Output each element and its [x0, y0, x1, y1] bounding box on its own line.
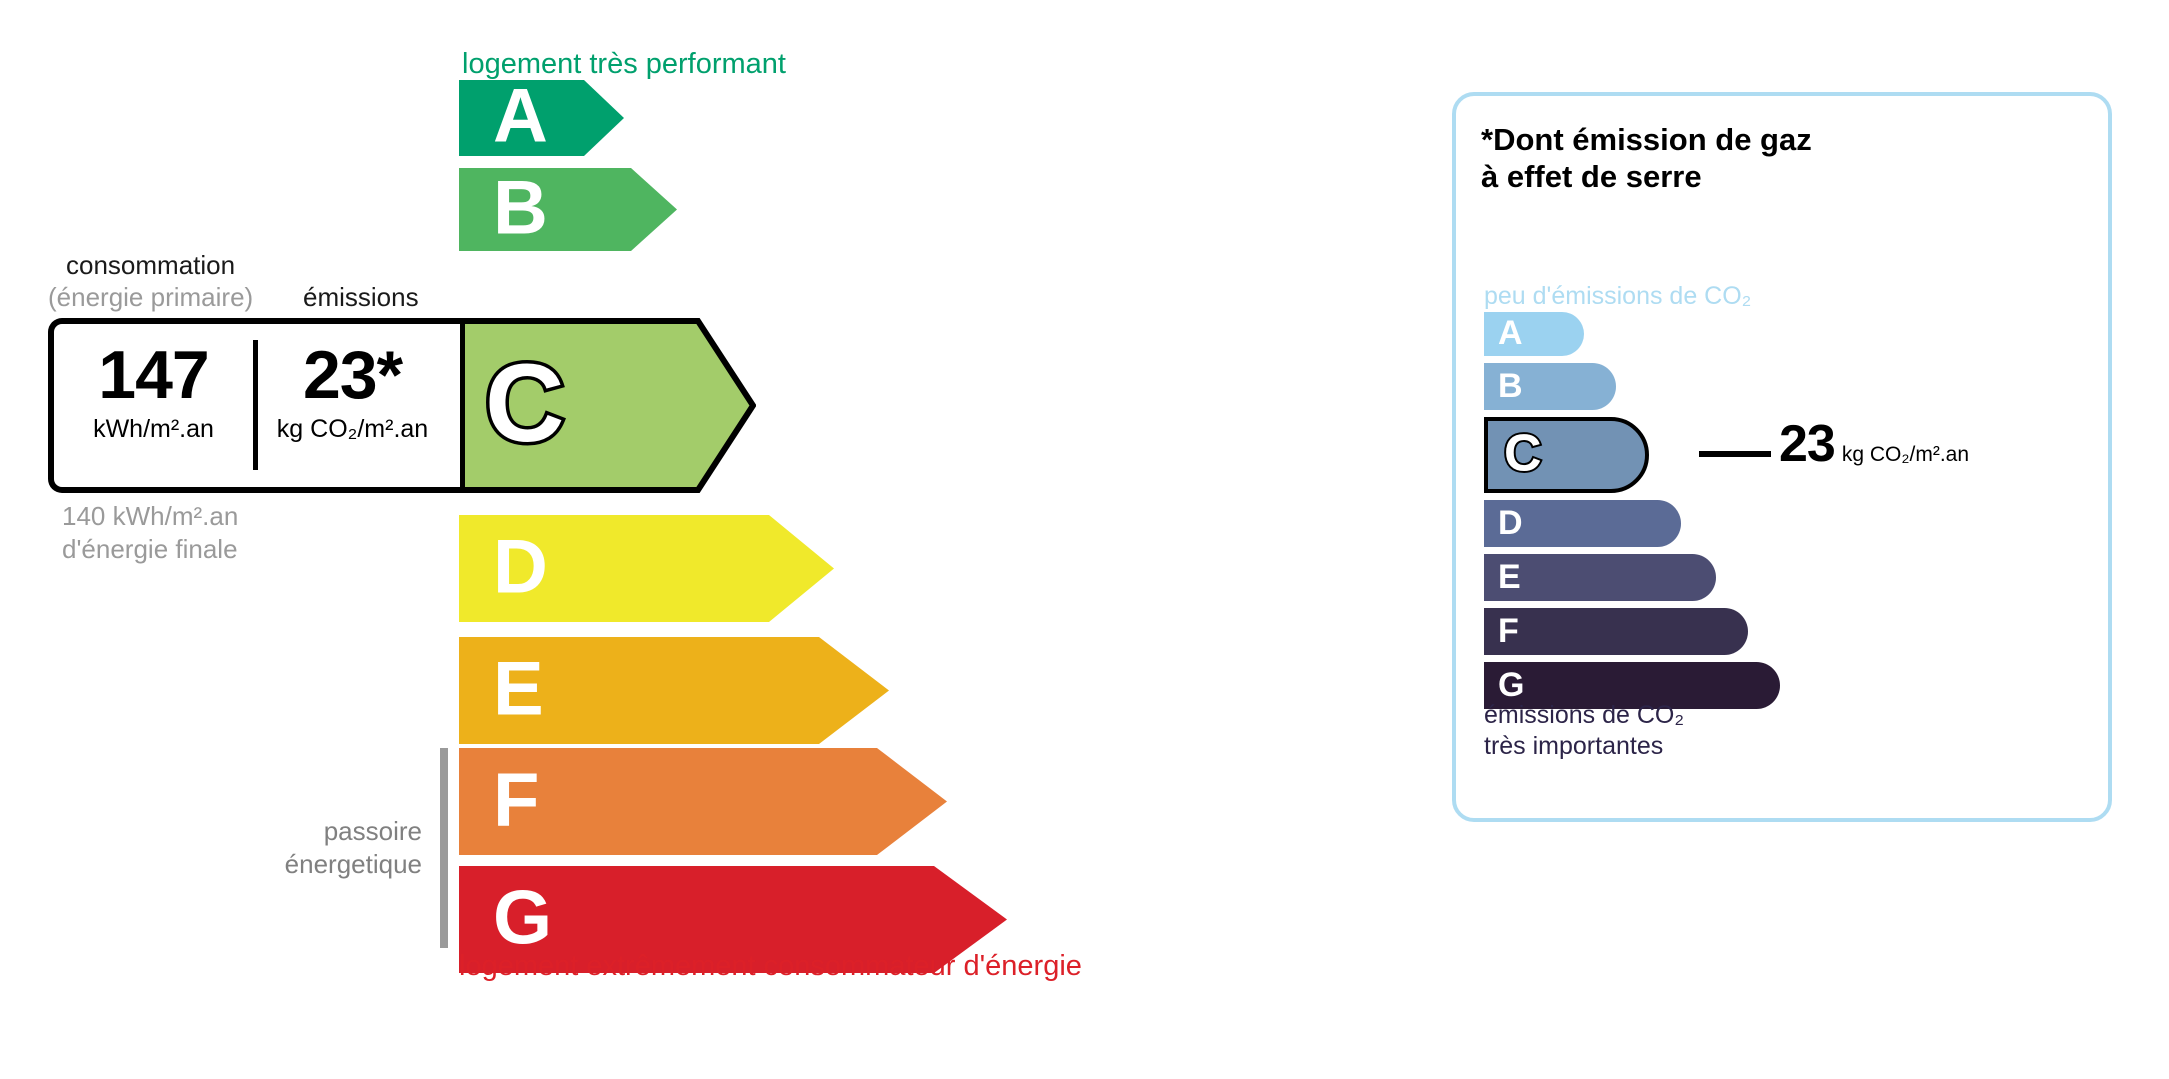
energy-grade-a: A	[459, 80, 624, 156]
co2-grade-letter-a: A	[1498, 316, 1523, 350]
co2-callout-value: 23	[1779, 415, 1835, 473]
passoire-bracket	[440, 748, 448, 948]
co2-grade-b: B	[1484, 363, 1616, 410]
energy-grade-f: F	[459, 748, 947, 855]
co2-leader-line	[1699, 451, 1771, 457]
co2-grade-letter-e: E	[1498, 559, 1521, 593]
passoire-label: passoire énergetique	[170, 815, 422, 880]
co2-title-line1: *Dont émission de gaz	[1481, 122, 1812, 159]
emission-value: 23*	[260, 342, 445, 409]
co2-bottom-line1: émissions de CO₂	[1484, 700, 1684, 731]
energy-grade-d: D	[459, 515, 834, 622]
co2-grade-a: A	[1484, 312, 1584, 356]
energy-grade-letter-d: D	[493, 529, 548, 605]
co2-bottom-line2: très importantes	[1484, 731, 1684, 762]
co2-top-caption: peu d'émissions de CO₂	[1484, 282, 1751, 311]
energy-grade-b: B	[459, 168, 677, 251]
co2-callout-unit: kg CO₂/m².an	[1842, 443, 1969, 466]
energy-bottom-caption: logement extrêmement consommateur d'éner…	[459, 950, 1082, 983]
co2-bottom-caption: émissions de CO₂ très importantes	[1484, 700, 1684, 761]
energy-grade-letter-g: G	[493, 880, 552, 956]
final-energy-note: 140 kWh/m².an d'énergie finale	[62, 500, 238, 565]
energy-performance-chart: logement très performant ABCDEFG consomm…	[0, 0, 1400, 1079]
energy-grade-letter-f: F	[493, 762, 539, 838]
label-emissions: émissions	[303, 282, 419, 313]
co2-grade-d: D	[1484, 500, 1681, 547]
value-box-divider	[253, 340, 258, 470]
energy-grade-letter-a: A	[493, 78, 548, 154]
co2-grade-letter-g: G	[1498, 667, 1524, 701]
arrow-shape-b	[459, 168, 677, 251]
final-energy-label: d'énergie finale	[62, 533, 238, 566]
passoire-line2: énergetique	[170, 848, 422, 881]
label-consumption: consommation	[66, 250, 235, 281]
co2-grade-letter-d: D	[1498, 505, 1523, 539]
energy-grade-letter-e: E	[493, 651, 544, 727]
co2-grade-letter-c: C	[1504, 427, 1542, 479]
label-primary-energy: (énergie primaire)	[48, 282, 253, 313]
consumption-unit: kWh/m².an	[56, 415, 251, 444]
co2-grade-f: F	[1484, 608, 1748, 655]
co2-title-line2: à effet de serre	[1481, 159, 1812, 196]
consumption-readout: 147 kWh/m².an	[56, 342, 251, 444]
consumption-value: 147	[56, 342, 251, 409]
passoire-line1: passoire	[170, 815, 422, 848]
energy-grade-e: E	[459, 637, 889, 744]
co2-panel-title: *Dont émission de gaz à effet de serre	[1481, 122, 1812, 195]
co2-grade-e: E	[1484, 554, 1716, 601]
energy-grade-letter-b: B	[493, 170, 548, 246]
co2-callout: 23kg CO₂/m².an	[1779, 414, 1969, 474]
energy-grade-letter-c: C	[485, 348, 564, 458]
final-energy-value: 140 kWh/m².an	[62, 500, 238, 533]
co2-grade-letter-b: B	[1498, 368, 1523, 402]
co2-grade-letter-f: F	[1498, 613, 1519, 647]
co2-grade-c: C	[1484, 417, 1649, 493]
energy-grade-c: C	[459, 318, 756, 493]
emission-unit: kg CO₂/m².an	[260, 415, 445, 444]
emission-readout: 23* kg CO₂/m².an	[260, 342, 445, 444]
